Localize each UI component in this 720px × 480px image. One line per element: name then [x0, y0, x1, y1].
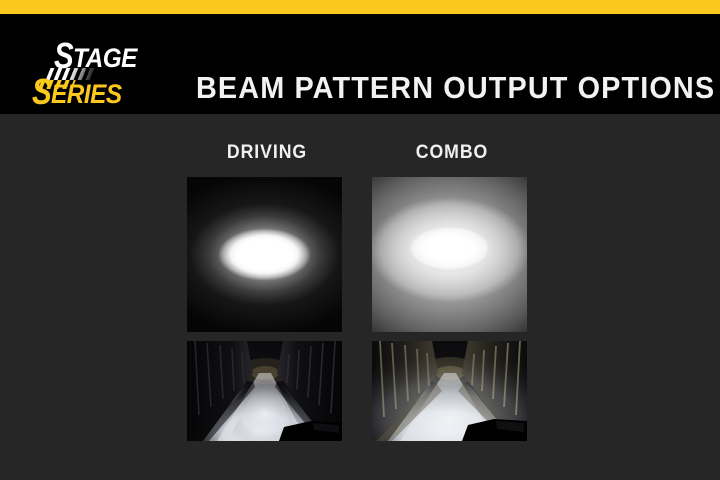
driving-beam-glow	[187, 177, 342, 332]
header-band: STAGE SERIES BEAM PATTERN OUTPUT OPTIONS	[0, 14, 720, 114]
logo-stage-rest: TAGE	[73, 45, 137, 72]
logo-series-rest: ERIES	[51, 81, 122, 108]
combo-road-photo	[372, 341, 527, 441]
column-driving: DRIVING	[187, 114, 347, 441]
logo-word-stage: STAGE	[54, 38, 144, 74]
driving-road-photo	[187, 341, 342, 441]
beam-comparison-grid: DRIVING	[0, 114, 720, 480]
column-label-combo: COMBO	[378, 142, 527, 164]
page-title: BEAM PATTERN OUTPUT OPTIONS	[196, 68, 661, 108]
driving-beam-pattern	[187, 177, 342, 332]
column-combo: COMBO	[372, 114, 532, 441]
column-label-driving: DRIVING	[193, 142, 342, 164]
brand-logo: STAGE SERIES	[26, 40, 176, 112]
combo-beam-glow	[372, 177, 527, 332]
logo-series-initial: S	[32, 74, 52, 110]
combo-beam-pattern	[372, 177, 527, 332]
combo-road-photo-illustration	[372, 341, 527, 441]
driving-road-photo-illustration	[187, 341, 342, 441]
top-accent-bar	[0, 0, 720, 14]
logo-stage-initial: S	[54, 38, 74, 74]
logo-word-series: SERIES	[32, 74, 130, 110]
